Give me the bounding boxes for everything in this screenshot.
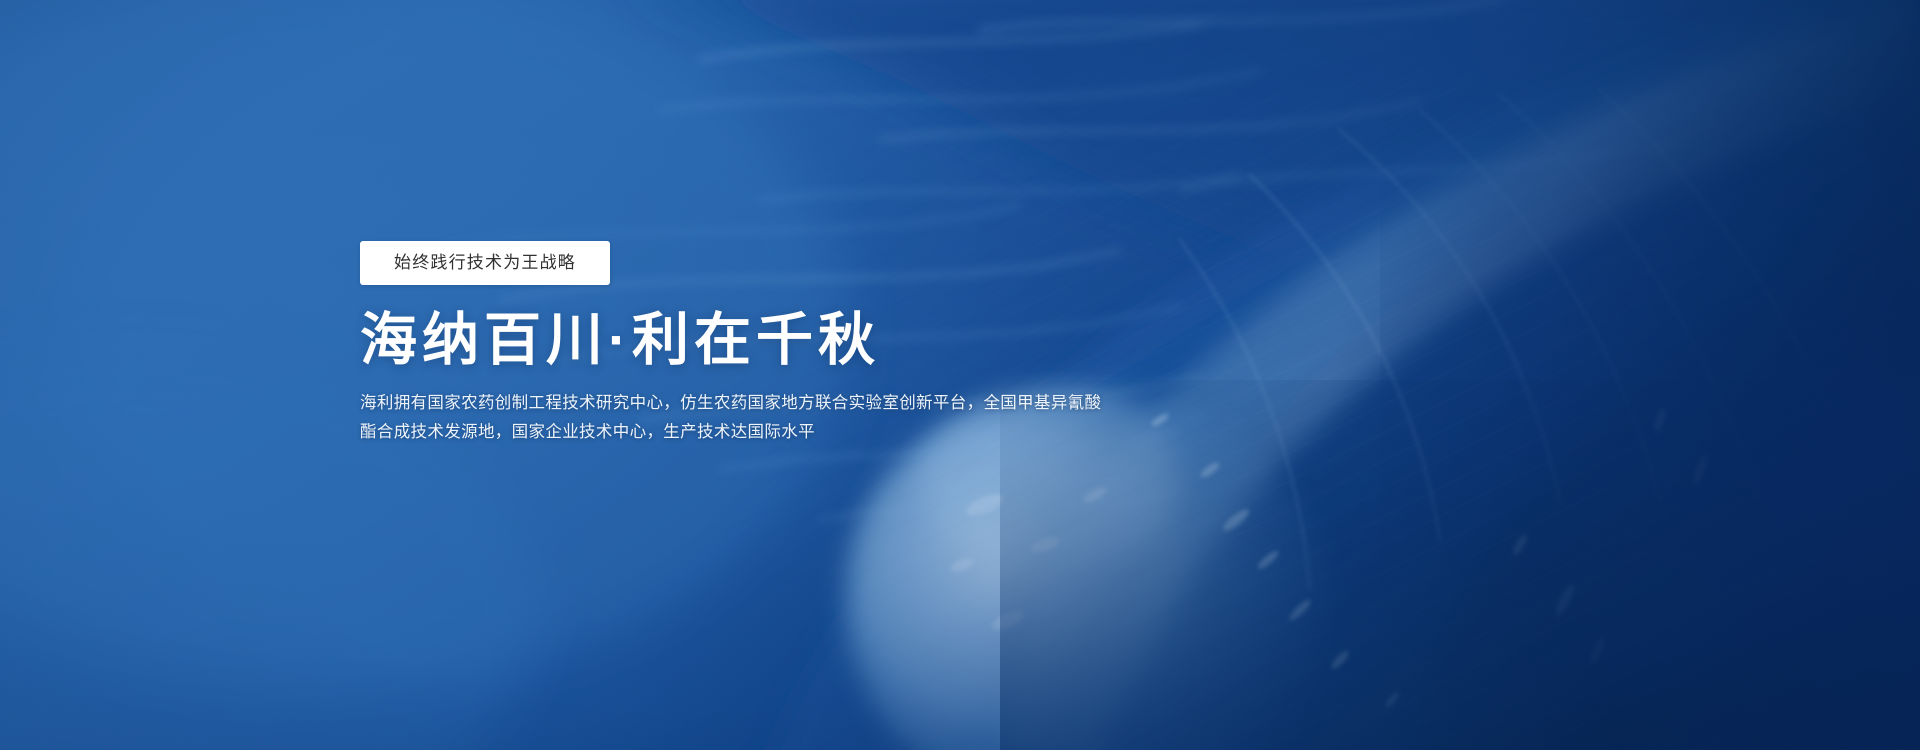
hero-content: 始终践行技术为王战略 海纳百川·利在千秋 海利拥有国家农药创制工程技术研究中心，… xyxy=(360,241,1280,447)
hero-banner: 始终践行技术为王战略 海纳百川·利在千秋 海利拥有国家农药创制工程技术研究中心，… xyxy=(0,0,1920,750)
hero-description-line-2: 酯合成技术发源地，国家企业技术中心，生产技术达国际水平 xyxy=(360,418,1200,447)
strategy-badge: 始终践行技术为王战略 xyxy=(360,241,610,285)
hero-description: 海利拥有国家农药创制工程技术研究中心，仿生农药国家地方联合实验室创新平台，全国甲… xyxy=(360,389,1200,447)
hero-headline: 海纳百川·利在千秋 xyxy=(360,307,1280,373)
hero-description-line-1: 海利拥有国家农药创制工程技术研究中心，仿生农药国家地方联合实验室创新平台，全国甲… xyxy=(360,389,1200,418)
